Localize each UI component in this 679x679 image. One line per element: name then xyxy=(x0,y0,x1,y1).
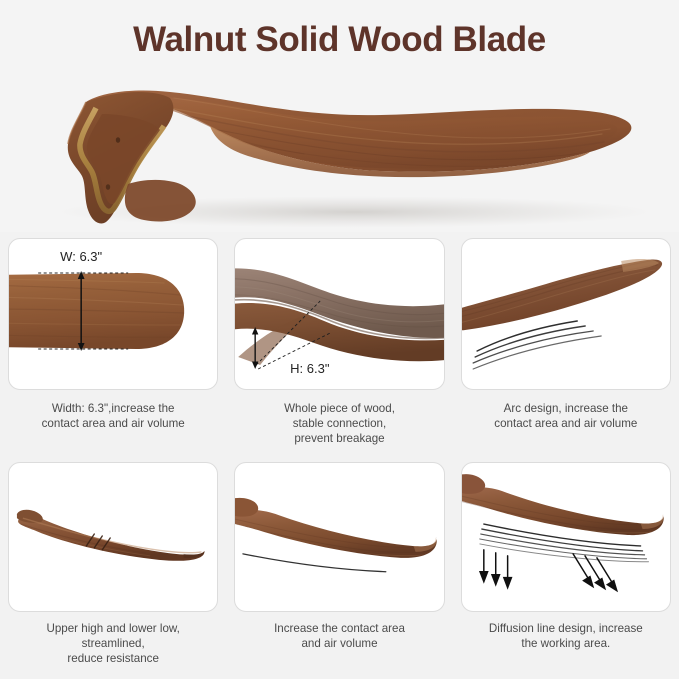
height-annotation-label: H: 6.3" xyxy=(290,361,330,376)
blade-tip-top-view-illustration: W: 6.3" xyxy=(9,239,217,389)
width-annotation-label: W: 6.3" xyxy=(60,249,102,264)
feature-image-width: W: 6.3" xyxy=(8,238,218,390)
single-flow-line xyxy=(243,553,386,571)
hub-tail xyxy=(125,180,196,222)
blade-diffusion-illustration xyxy=(462,463,670,611)
arrow-down xyxy=(480,549,488,581)
blade-heel-twist xyxy=(462,474,485,494)
feature-cell-arc-design: Arc design, increase the contact area an… xyxy=(453,232,679,456)
feature-caption-streamlined: Upper high and lower low, streamlined, r… xyxy=(8,621,218,667)
feature-cell-streamlined: Upper high and lower low, streamlined, r… xyxy=(0,456,226,679)
feature-grid: W: 6.3" Width: 6.3",increase the contact… xyxy=(0,232,679,679)
feature-caption-width: Width: 6.3",increase the contact area an… xyxy=(8,401,218,431)
feature-image-arc-design xyxy=(461,238,671,390)
blade-edge-on-profile-illustration xyxy=(9,463,217,611)
arrow-down xyxy=(492,552,500,584)
walnut-blade-illustration xyxy=(24,72,664,232)
feature-cell-contact-area: Increase the contact area and air volume xyxy=(226,456,452,679)
blade-neck-closeup-illustration: H: 6.3" xyxy=(235,239,443,389)
feature-caption-diffusion: Diffusion line design, increase the work… xyxy=(461,621,671,651)
feature-image-contact-area xyxy=(234,462,444,612)
screw-hole xyxy=(116,137,120,143)
blade-underside-shape xyxy=(235,509,437,557)
feature-caption-arc-design: Arc design, increase the contact area an… xyxy=(461,401,671,431)
feature-cell-diffusion: Diffusion line design, increase the work… xyxy=(453,456,679,679)
feature-image-streamlined xyxy=(8,462,218,612)
feature-caption-whole-piece: Whole piece of wood, stable connection, … xyxy=(234,401,444,447)
hero-section: Walnut Solid Wood Blade xyxy=(0,0,679,232)
feature-image-diffusion xyxy=(461,462,671,612)
arc-flow-lines xyxy=(473,321,601,369)
blade-shape xyxy=(462,487,664,535)
blade-heel-twist xyxy=(235,497,258,516)
hero-product-image xyxy=(24,72,664,232)
arrow-down xyxy=(504,555,512,587)
airflow-arrows-vertical xyxy=(480,549,511,587)
blade-edge-shape xyxy=(18,515,204,560)
blade-arc-profile-illustration xyxy=(462,239,670,389)
feature-cell-width: W: 6.3" Width: 6.3",increase the contact… xyxy=(0,232,226,456)
blade-underside-illustration xyxy=(235,463,443,611)
feature-image-whole-piece: H: 6.3" xyxy=(234,238,444,390)
screw-hole xyxy=(106,184,110,190)
feature-caption-contact-area: Increase the contact area and air volume xyxy=(234,621,444,651)
feature-cell-whole-piece: H: 6.3" Whole piece of wood, stable conn… xyxy=(226,232,452,456)
page-title: Walnut Solid Wood Blade xyxy=(0,20,679,60)
